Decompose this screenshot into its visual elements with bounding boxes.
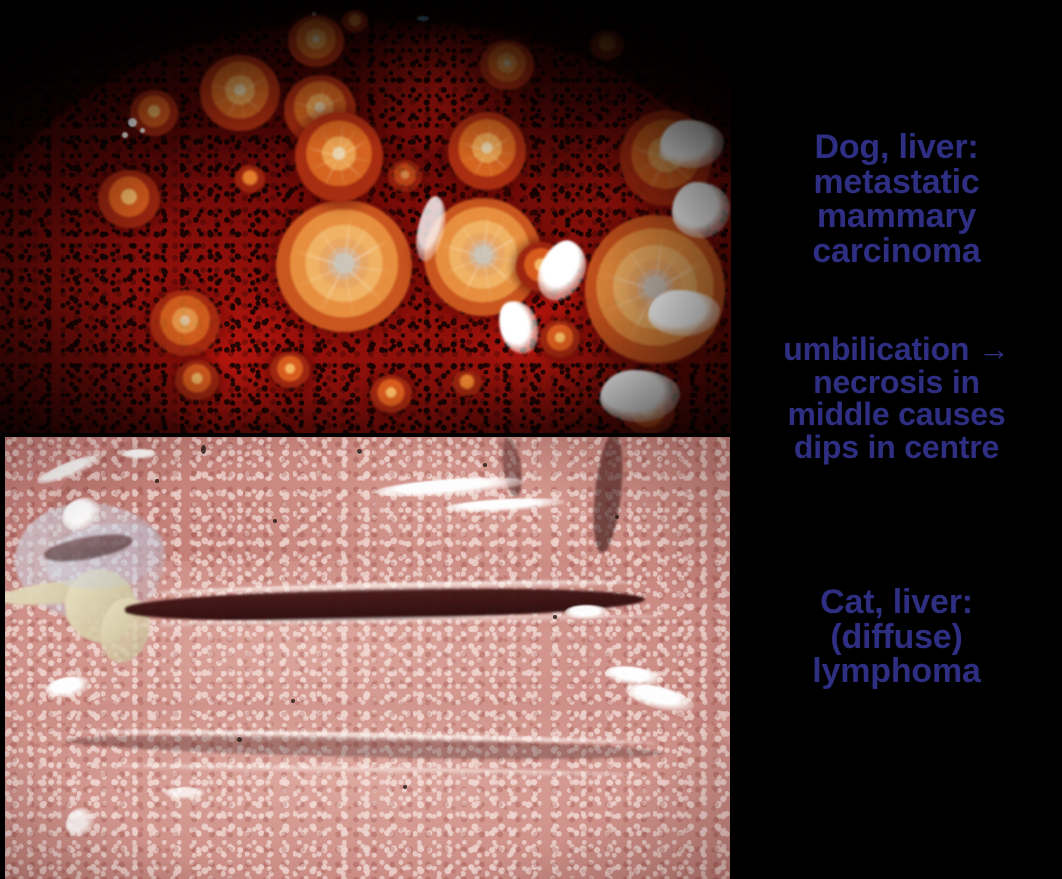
photo-cat-liver: [0, 437, 730, 879]
caption-column: Dog, liver: metastatic mammary carcinoma…: [731, 0, 1062, 879]
caption-cat-liver: Cat, liver: (diffuse) lymphoma: [731, 585, 1062, 689]
slide-root: Dog, liver: metastatic mammary carcinoma…: [0, 0, 1062, 879]
photo-dog-liver: [0, 0, 731, 433]
photo-vignette: [5, 437, 730, 879]
caption-umbilication-note: umbilication → necrosis in middle causes…: [731, 333, 1062, 464]
photo-vignette: [0, 0, 731, 433]
caption-dog-liver: Dog, liver: metastatic mammary carcinoma: [731, 130, 1062, 269]
